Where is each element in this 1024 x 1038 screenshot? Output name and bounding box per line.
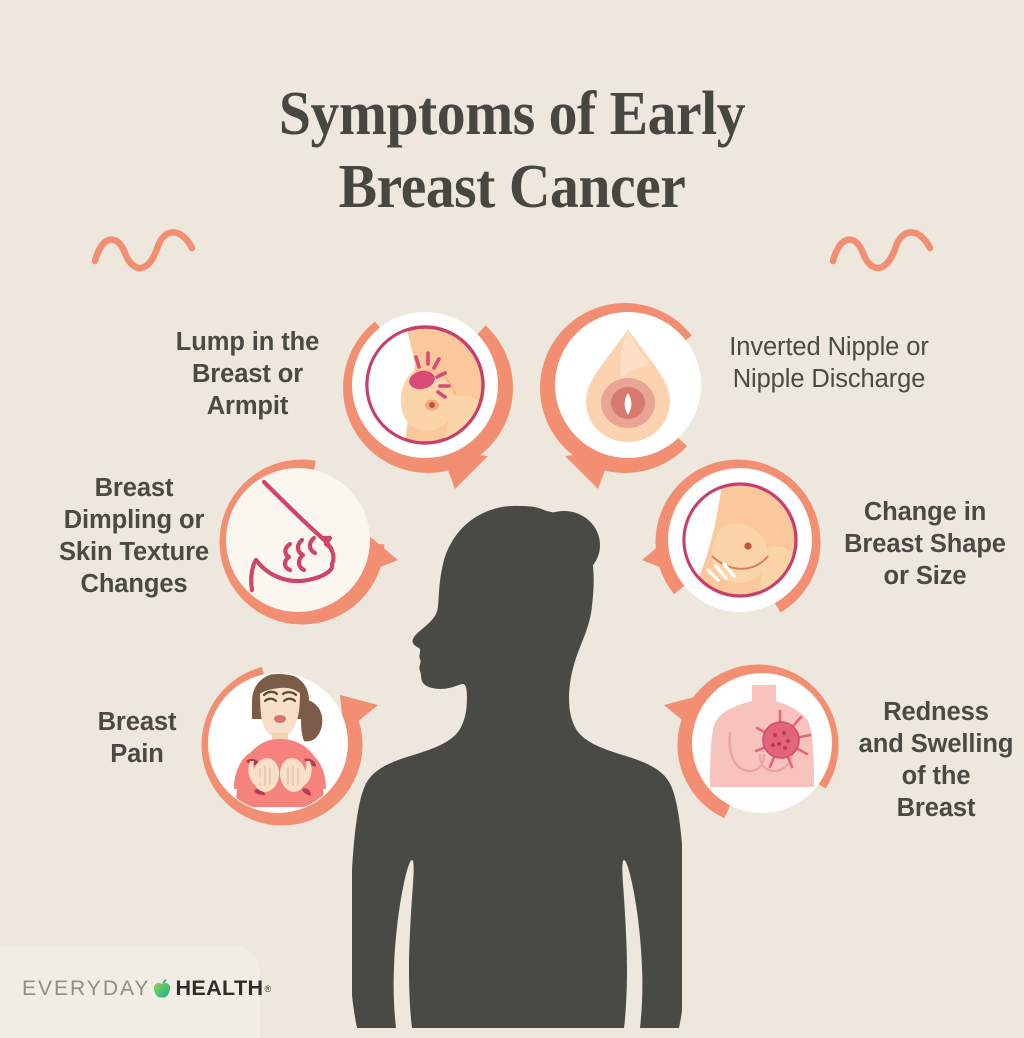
logo-health-text: HEALTH: [175, 976, 263, 1001]
title-line-2: Breast Cancer: [36, 151, 988, 224]
label-inverted-nipple-line-0: Inverted Nipple or: [693, 332, 965, 364]
label-lump: Lump in the Breast or Armpit: [140, 327, 355, 423]
label-shape-change-line-0: Change in: [826, 497, 1024, 529]
label-inverted-nipple: Inverted Nipple or Nipple Discharge: [693, 332, 965, 396]
label-dimpling: Breast Dimpling or Skin Texture Changes: [28, 473, 240, 601]
label-inverted-nipple-line-1: Nipple Discharge: [693, 364, 965, 396]
label-dimpling-line-0: Breast: [28, 473, 240, 505]
label-redness-line-1: and Swelling: [848, 729, 1024, 761]
label-redness-line-2: of the: [848, 761, 1024, 793]
label-pain-line-1: Pain: [58, 739, 216, 771]
label-shape-change: Change in Breast Shape or Size: [826, 497, 1024, 593]
symptom-badge-pain[interactable]: [192, 657, 382, 837]
brand-logo: EVERYDAY HEALTH ®: [22, 976, 271, 1001]
label-shape-change-line-2: or Size: [826, 561, 1024, 593]
wavy-line-left-icon: [92, 228, 196, 274]
label-redness-line-3: Breast: [848, 793, 1024, 825]
symptom-badge-redness[interactable]: [660, 657, 850, 837]
symptom-badge-shape-change[interactable]: [638, 452, 828, 642]
brand-logo-card: EVERYDAY HEALTH ®: [0, 946, 260, 1038]
symptom-badge-dimpling[interactable]: [212, 452, 402, 642]
label-dimpling-line-1: Dimpling or: [28, 505, 240, 537]
green-apple-icon: [152, 978, 172, 1000]
page-title: Symptoms of Early Breast Cancer: [36, 78, 988, 224]
label-pain: Breast Pain: [58, 707, 216, 771]
infographic-canvas: Symptoms of Early Breast Cancer: [0, 0, 1024, 1024]
wavy-line-right-icon: [830, 228, 934, 274]
logo-trademark: ®: [264, 984, 271, 994]
label-redness: Redness and Swelling of the Breast: [848, 697, 1024, 825]
title-line-1: Symptoms of Early: [36, 78, 988, 151]
label-lump-line-0: Lump in the: [140, 327, 355, 359]
label-shape-change-line-1: Breast Shape: [826, 529, 1024, 561]
logo-everyday-text: EVERYDAY: [22, 977, 150, 1001]
label-dimpling-line-3: Changes: [28, 569, 240, 601]
label-redness-line-0: Redness: [848, 697, 1024, 729]
label-pain-line-0: Breast: [58, 707, 216, 739]
label-dimpling-line-2: Skin Texture: [28, 537, 240, 569]
label-lump-line-2: Armpit: [140, 391, 355, 423]
label-lump-line-1: Breast or: [140, 359, 355, 391]
